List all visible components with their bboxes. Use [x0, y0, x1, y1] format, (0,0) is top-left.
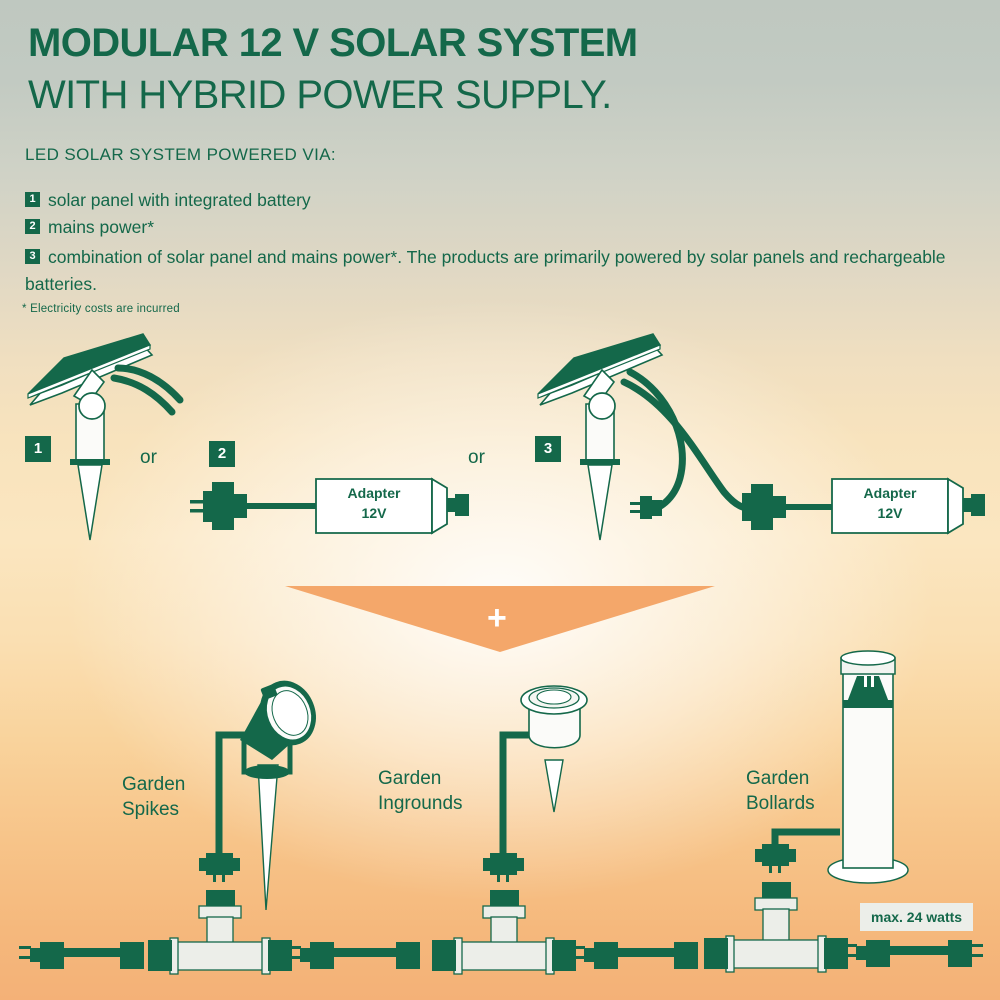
product-label-ingrounds-line1: Garden: [378, 768, 441, 789]
extension-cable-2: [573, 942, 698, 969]
cable-coupler-3: [742, 484, 786, 530]
garden-spike-product: [199, 674, 324, 910]
product-label-spikes-line1: Garden: [122, 774, 185, 795]
option-badge-2: 2: [209, 441, 235, 467]
t-connector-1: [148, 890, 292, 974]
product-label-ingrounds-line2: Ingrounds: [378, 793, 463, 814]
adapter-box-3: [832, 479, 985, 533]
product-label-ingrounds: GardenIngrounds: [378, 766, 463, 816]
plus-symbol: +: [487, 601, 507, 635]
solar-plug-3: [630, 496, 662, 519]
product-label-bollards-line2: Bollards: [746, 793, 815, 814]
product-label-bollards-line1: Garden: [746, 768, 809, 789]
mains-plug-connector-2: [190, 482, 247, 530]
extension-cable-1: [289, 942, 420, 969]
product-label-bollards: GardenBollards: [746, 766, 815, 816]
or-label-1: or: [140, 447, 157, 469]
infographic-canvas: MODULAR 12 V SOLAR SYSTEM WITH HYBRID PO…: [0, 0, 1000, 1000]
or-label-2: or: [468, 447, 485, 469]
t-connector-2: [432, 890, 576, 974]
option-badge-1: 1: [25, 436, 51, 462]
product-label-spikes: GardenSpikes: [122, 772, 185, 822]
product-label-spikes-line2: Spikes: [122, 799, 179, 820]
extension-cable-3: [845, 940, 983, 967]
adapter-box-2: [316, 479, 469, 533]
t-connector-3: [704, 882, 848, 972]
option-badge-3: 3: [535, 436, 561, 462]
wattage-badge: max. 24 watts: [860, 903, 973, 931]
garden-inground-product: [483, 686, 587, 882]
power-options-diagram: [0, 0, 1000, 1000]
extension-cable-0: [19, 942, 144, 969]
